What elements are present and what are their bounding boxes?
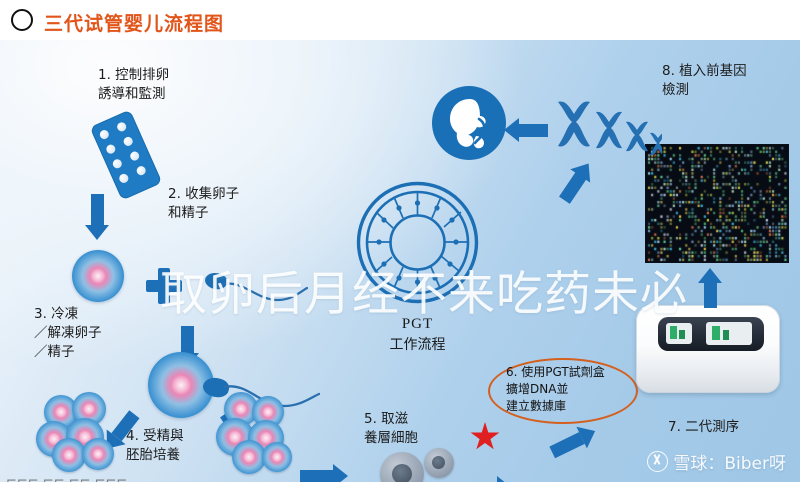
step-7-label: 7. 二代測序 bbox=[668, 418, 739, 437]
red-star-icon bbox=[470, 422, 500, 452]
watermark: 雪球：Biber呀 bbox=[647, 449, 786, 474]
xueqiu-logo-icon bbox=[647, 451, 668, 472]
step-8-label: 8. 植入前基因 檢測 bbox=[662, 62, 747, 100]
fetus-badge-icon bbox=[432, 86, 506, 160]
flowchart-poster: 1. 控制排卵 誘導和監測 3. 冷凍 ／解凍卵子 ／精子 2. 收集卵子 和精… bbox=[0, 40, 800, 482]
arrow-right-step5 bbox=[466, 476, 512, 482]
step-1-label: 1. 控制排卵 誘導和監測 bbox=[98, 66, 169, 104]
circle-outline-icon bbox=[11, 9, 33, 31]
pill-blister-icon bbox=[90, 110, 163, 201]
arrow-down-step1 bbox=[85, 194, 110, 240]
step-5-label: 5. 取滋 養層細胞 bbox=[364, 410, 418, 448]
overlay-caption-text: 取卵后月经不来吃药未必 bbox=[160, 266, 780, 324]
step-6-label: 6. 使用PGT試劑盒 擴增DNA並 建立數據庫 bbox=[506, 364, 605, 415]
step-2-label: 2. 收集卵子 和精子 bbox=[168, 185, 239, 223]
screenshot-root: 三代试管婴儿流程图 1. 控制排卵 誘導和監測 3. 冷凍 ／解凍卵子 ／精子 … bbox=[0, 0, 800, 482]
arrow-up-to-chromosomes bbox=[554, 157, 599, 207]
page-header: 三代试管婴儿流程图 bbox=[0, 0, 800, 40]
watermark-text: 雪球：Biber呀 bbox=[673, 449, 786, 474]
frozen-egg-icon bbox=[72, 250, 124, 302]
arrow-right-step6 bbox=[547, 420, 601, 464]
arrow-right-step4 bbox=[300, 464, 348, 482]
cut-off-text: ⌐⌐⌐ ⌐⌐ ⌐⌐ ⌐⌐⌐ bbox=[6, 474, 127, 482]
pgt-label-line2: 工作流程 bbox=[355, 334, 480, 354]
page-title: 三代试管婴儿流程图 bbox=[44, 9, 224, 36]
chromosome-x-icon bbox=[552, 100, 662, 164]
dna-gel-icon bbox=[646, 145, 788, 262]
arrow-left-to-fetus bbox=[504, 118, 548, 143]
step-4-label: 4. 受精與 胚胎培養 bbox=[126, 427, 184, 465]
step-3-label: 3. 冷凍 ／解凍卵子 ／精子 bbox=[34, 305, 102, 362]
